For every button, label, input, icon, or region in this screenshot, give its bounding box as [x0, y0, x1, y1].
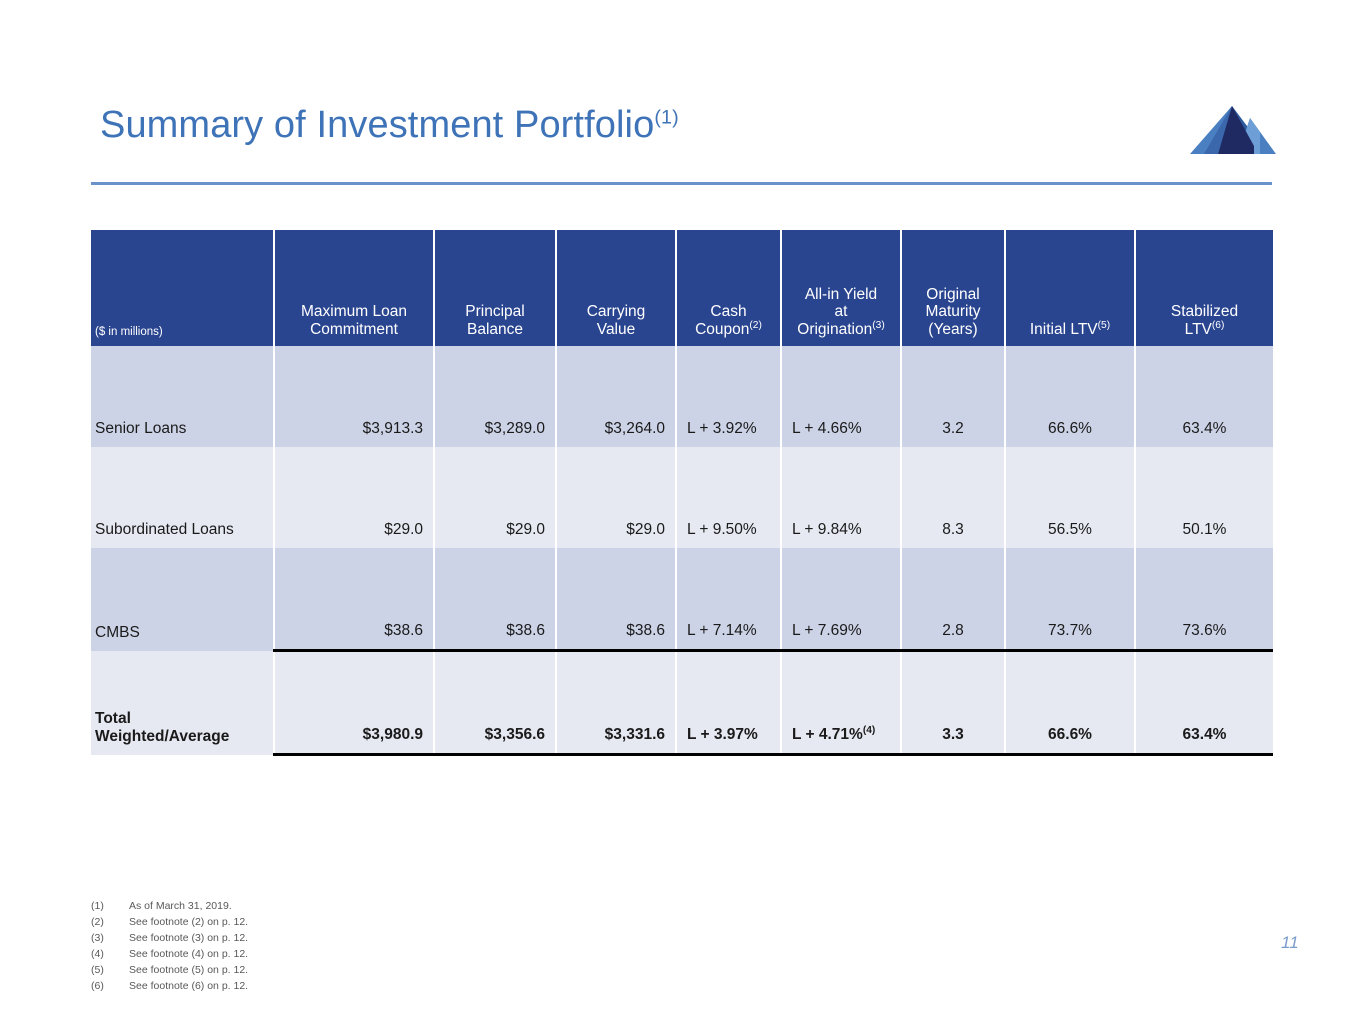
mountain-logo — [1182, 96, 1278, 158]
column-header-all-in-yield-at-origination: All-in Yield at Origination(3) — [781, 230, 901, 346]
header-superscript: (5) — [1098, 319, 1111, 330]
cell-all-in-yield: L + 7.69% — [781, 548, 901, 651]
footnote-text: See footnote (2) on p. 12. — [129, 915, 248, 931]
footnote-text: See footnote (4) on p. 12. — [129, 947, 248, 963]
footnote-text: As of March 31, 2019. — [129, 899, 232, 915]
header-superscript: (2) — [749, 319, 762, 330]
header-line-3: Origination — [797, 321, 872, 338]
footnote-marker: (1) — [91, 899, 129, 915]
row-label-subordinated-loans: Subordinated Loans — [91, 447, 274, 548]
column-header-initial-ltv: Initial LTV(5) — [1005, 230, 1135, 346]
header-superscript: (3) — [872, 319, 885, 330]
page-number: 11 — [1281, 933, 1299, 953]
cell-original-maturity: 3.2 — [901, 346, 1005, 447]
footnote-item: (2) See footnote (2) on p. 12. — [91, 915, 248, 931]
footnote-item: (6) See footnote (6) on p. 12. — [91, 979, 248, 995]
header-line-1: Stabilized — [1171, 303, 1238, 320]
column-header-cash-coupon: Cash Coupon(2) — [676, 230, 781, 346]
header-line-2: LTV — [1185, 321, 1212, 338]
cell-all-in-yield-value: L + 7.69% — [792, 622, 862, 639]
cell-initial-ltv: 66.6% — [1005, 651, 1135, 755]
cell-cash-coupon: L + 7.14% — [676, 548, 781, 651]
cell-all-in-yield-value: L + 4.66% — [792, 420, 862, 437]
table-row: Senior Loans $3,913.3 $3,289.0 $3,264.0 … — [91, 346, 1273, 447]
cell-principal-balance: $38.6 — [434, 548, 556, 651]
header-line-2: Value — [597, 321, 636, 338]
cell-original-maturity: 3.3 — [901, 651, 1005, 755]
header-line-1: Initial LTV — [1030, 321, 1098, 338]
row-label-senior-loans: Senior Loans — [91, 346, 274, 447]
header-line-1: All-in Yield — [805, 286, 877, 303]
header-line-2: at — [835, 303, 848, 320]
cell-initial-ltv: 66.6% — [1005, 346, 1135, 447]
cell-all-in-yield: L + 4.66% — [781, 346, 901, 447]
header-line-3: (Years) — [928, 321, 977, 338]
cell-principal-balance: $3,356.6 — [434, 651, 556, 755]
header-line-1: Carrying — [587, 303, 646, 320]
footnote-marker: (2) — [91, 915, 129, 931]
footnote-marker: (3) — [91, 931, 129, 947]
header-line-1: Principal — [465, 303, 524, 320]
row-label-line-2: Weighted/Average — [95, 728, 229, 745]
cell-original-maturity: 8.3 — [901, 447, 1005, 548]
cell-cash-coupon: L + 9.50% — [676, 447, 781, 548]
header-line-1: Maximum Loan — [301, 303, 407, 320]
cell-original-maturity: 2.8 — [901, 548, 1005, 651]
mountain-logo-icon — [1182, 96, 1278, 158]
header-line-2: Coupon — [695, 321, 749, 338]
table-row: Subordinated Loans $29.0 $29.0 $29.0 L +… — [91, 447, 1273, 548]
investment-portfolio-table: ($ in millions) Maximum Loan Commitment … — [91, 230, 1273, 756]
header-line-1: Cash — [710, 303, 746, 320]
row-label-cmbs: CMBS — [91, 548, 274, 651]
table-units-note: ($ in millions) — [91, 230, 274, 346]
header-line-1: Original — [926, 286, 979, 303]
cell-carrying-value: $38.6 — [556, 548, 676, 651]
footnote-text: See footnote (5) on p. 12. — [129, 963, 248, 979]
header-line-2: Commitment — [310, 321, 398, 338]
page-title: Summary of Investment Portfolio(1) — [100, 104, 679, 147]
cell-carrying-value: $3,264.0 — [556, 346, 676, 447]
cell-max-loan-commitment: $38.6 — [274, 548, 434, 651]
cell-cash-coupon: L + 3.92% — [676, 346, 781, 447]
footnote-item: (3) See footnote (3) on p. 12. — [91, 931, 248, 947]
cell-max-loan-commitment: $3,913.3 — [274, 346, 434, 447]
header-line-2: Balance — [467, 321, 523, 338]
page-title-text: Summary of Investment Portfolio — [100, 104, 654, 146]
cell-principal-balance: $29.0 — [434, 447, 556, 548]
cell-all-in-yield: L + 9.84% — [781, 447, 901, 548]
header-line-2: Maturity — [925, 303, 980, 320]
column-header-principal-balance: Principal Balance — [434, 230, 556, 346]
footnote-text: See footnote (3) on p. 12. — [129, 931, 248, 947]
table-header-row: ($ in millions) Maximum Loan Commitment … — [91, 230, 1273, 346]
row-label-total-weighted-average: Total Weighted/Average — [91, 651, 274, 755]
footnote-marker: (5) — [91, 963, 129, 979]
cell-max-loan-commitment: $29.0 — [274, 447, 434, 548]
footnote-item: (4) See footnote (4) on p. 12. — [91, 947, 248, 963]
title-divider — [91, 182, 1272, 185]
cell-carrying-value: $29.0 — [556, 447, 676, 548]
cell-all-in-yield: L + 4.71%(4) — [781, 651, 901, 755]
cell-initial-ltv: 56.5% — [1005, 447, 1135, 548]
cell-max-loan-commitment: $3,980.9 — [274, 651, 434, 755]
cell-stabilized-ltv: 50.1% — [1135, 447, 1273, 548]
cell-all-in-yield-value: L + 9.84% — [792, 521, 862, 538]
row-label-line-1: Total — [95, 710, 131, 727]
column-header-stabilized-ltv: Stabilized LTV(6) — [1135, 230, 1273, 346]
cell-all-in-yield-value: L + 4.71% — [792, 726, 863, 743]
table-row-total: Total Weighted/Average $3,980.9 $3,356.6… — [91, 651, 1273, 755]
column-header-carrying-value: Carrying Value — [556, 230, 676, 346]
column-header-maximum-loan-commitment: Maximum Loan Commitment — [274, 230, 434, 346]
cell-cash-coupon: L + 3.97% — [676, 651, 781, 755]
footnote-marker: (4) — [91, 947, 129, 963]
cell-principal-balance: $3,289.0 — [434, 346, 556, 447]
column-header-original-maturity-years: Original Maturity (Years) — [901, 230, 1005, 346]
cell-initial-ltv: 73.7% — [1005, 548, 1135, 651]
header-superscript: (6) — [1212, 319, 1225, 330]
footnote-list: (1) As of March 31, 2019. (2) See footno… — [91, 899, 248, 995]
footnote-marker: (6) — [91, 979, 129, 995]
cell-stabilized-ltv: 73.6% — [1135, 548, 1273, 651]
footnote-item: (1) As of March 31, 2019. — [91, 899, 248, 915]
footnote-text: See footnote (6) on p. 12. — [129, 979, 248, 995]
footnote-item: (5) See footnote (5) on p. 12. — [91, 963, 248, 979]
cell-stabilized-ltv: 63.4% — [1135, 346, 1273, 447]
cell-carrying-value: $3,331.6 — [556, 651, 676, 755]
page-title-superscript: (1) — [654, 106, 678, 128]
cell-stabilized-ltv: 63.4% — [1135, 651, 1273, 755]
cell-all-in-yield-superscript: (4) — [863, 725, 876, 736]
table-row: CMBS $38.6 $38.6 $38.6 L + 7.14% L + 7.6… — [91, 548, 1273, 651]
